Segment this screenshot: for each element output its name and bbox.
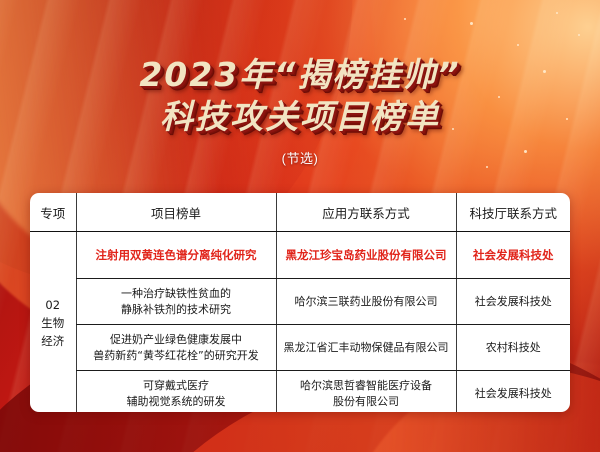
project-line: 辅助视觉系统的研发: [81, 394, 272, 410]
column-header-special: 专项: [30, 193, 76, 232]
poster-banner: 2023年“揭榜挂帅” 科技攻关项目榜单 (节选) 专项 项目榜单 应用方联系方…: [0, 0, 600, 452]
project-line: 兽药新药“黄芩红花栓”的研究开发: [81, 348, 272, 364]
department-name: 社会发展科技处: [456, 232, 570, 279]
project-name: 可穿戴式医疗 辅助视觉系统的研发: [76, 371, 276, 413]
applicant-line: 哈尔滨思哲睿智能医疗设备: [281, 378, 452, 394]
department-name: 社会发展科技处: [456, 279, 570, 325]
applicant-name: 黑龙江省汇丰动物保健品有限公司: [276, 325, 456, 371]
table-row: 02 生物 经济 注射用双黄连色谱分离纯化研究 黑龙江珍宝岛药业股份有限公司 社…: [30, 232, 570, 279]
column-header-project: 项目榜单: [76, 193, 276, 232]
special-label-line-1: 02: [34, 297, 72, 315]
listing-card: 专项 项目榜单 应用方联系方式 科技厅联系方式 02 生物 经济 注射用双黄连色…: [30, 193, 570, 412]
applicant-name: 哈尔滨思哲睿智能医疗设备 股份有限公司: [276, 371, 456, 413]
special-label-line-2: 生物: [34, 315, 72, 333]
table-row: 可穿戴式医疗 辅助视觉系统的研发 哈尔滨思哲睿智能医疗设备 股份有限公司 社会发…: [30, 371, 570, 413]
project-line: 促进奶产业绿色健康发展中: [81, 332, 272, 348]
project-name: 注射用双黄连色谱分离纯化研究: [76, 232, 276, 279]
special-category-label: 02 生物 经济: [30, 232, 76, 413]
project-listing-table: 专项 项目榜单 应用方联系方式 科技厅联系方式 02 生物 经济 注射用双黄连色…: [30, 193, 570, 412]
project-name: 促进奶产业绿色健康发展中 兽药新药“黄芩红花栓”的研究开发: [76, 325, 276, 371]
column-header-department: 科技厅联系方式: [456, 193, 570, 232]
applicant-name: 黑龙江珍宝岛药业股份有限公司: [276, 232, 456, 279]
applicant-line: 股份有限公司: [281, 394, 452, 410]
column-header-applicant: 应用方联系方式: [276, 193, 456, 232]
poster-title-block: 2023年“揭榜挂帅” 科技攻关项目榜单 (节选): [0, 56, 600, 167]
special-label-line-3: 经济: [34, 333, 72, 351]
title-subtitle: (节选): [0, 148, 600, 167]
department-name: 农村科技处: [456, 325, 570, 371]
title-line-1: 2023年“揭榜挂帅”: [0, 56, 600, 94]
table-header-row: 专项 项目榜单 应用方联系方式 科技厅联系方式: [30, 193, 570, 232]
title-line-2: 科技攻关项目榜单: [0, 98, 600, 136]
applicant-name: 哈尔滨三联药业股份有限公司: [276, 279, 456, 325]
project-line: 可穿戴式医疗: [81, 378, 272, 394]
department-name: 社会发展科技处: [456, 371, 570, 413]
table-row: 促进奶产业绿色健康发展中 兽药新药“黄芩红花栓”的研究开发 黑龙江省汇丰动物保健…: [30, 325, 570, 371]
project-name: 一种治疗缺铁性贫血的 静脉补铁剂的技术研究: [76, 279, 276, 325]
table-row: 一种治疗缺铁性贫血的 静脉补铁剂的技术研究 哈尔滨三联药业股份有限公司 社会发展…: [30, 279, 570, 325]
project-line: 静脉补铁剂的技术研究: [81, 302, 272, 318]
project-line: 一种治疗缺铁性贫血的: [81, 286, 272, 302]
